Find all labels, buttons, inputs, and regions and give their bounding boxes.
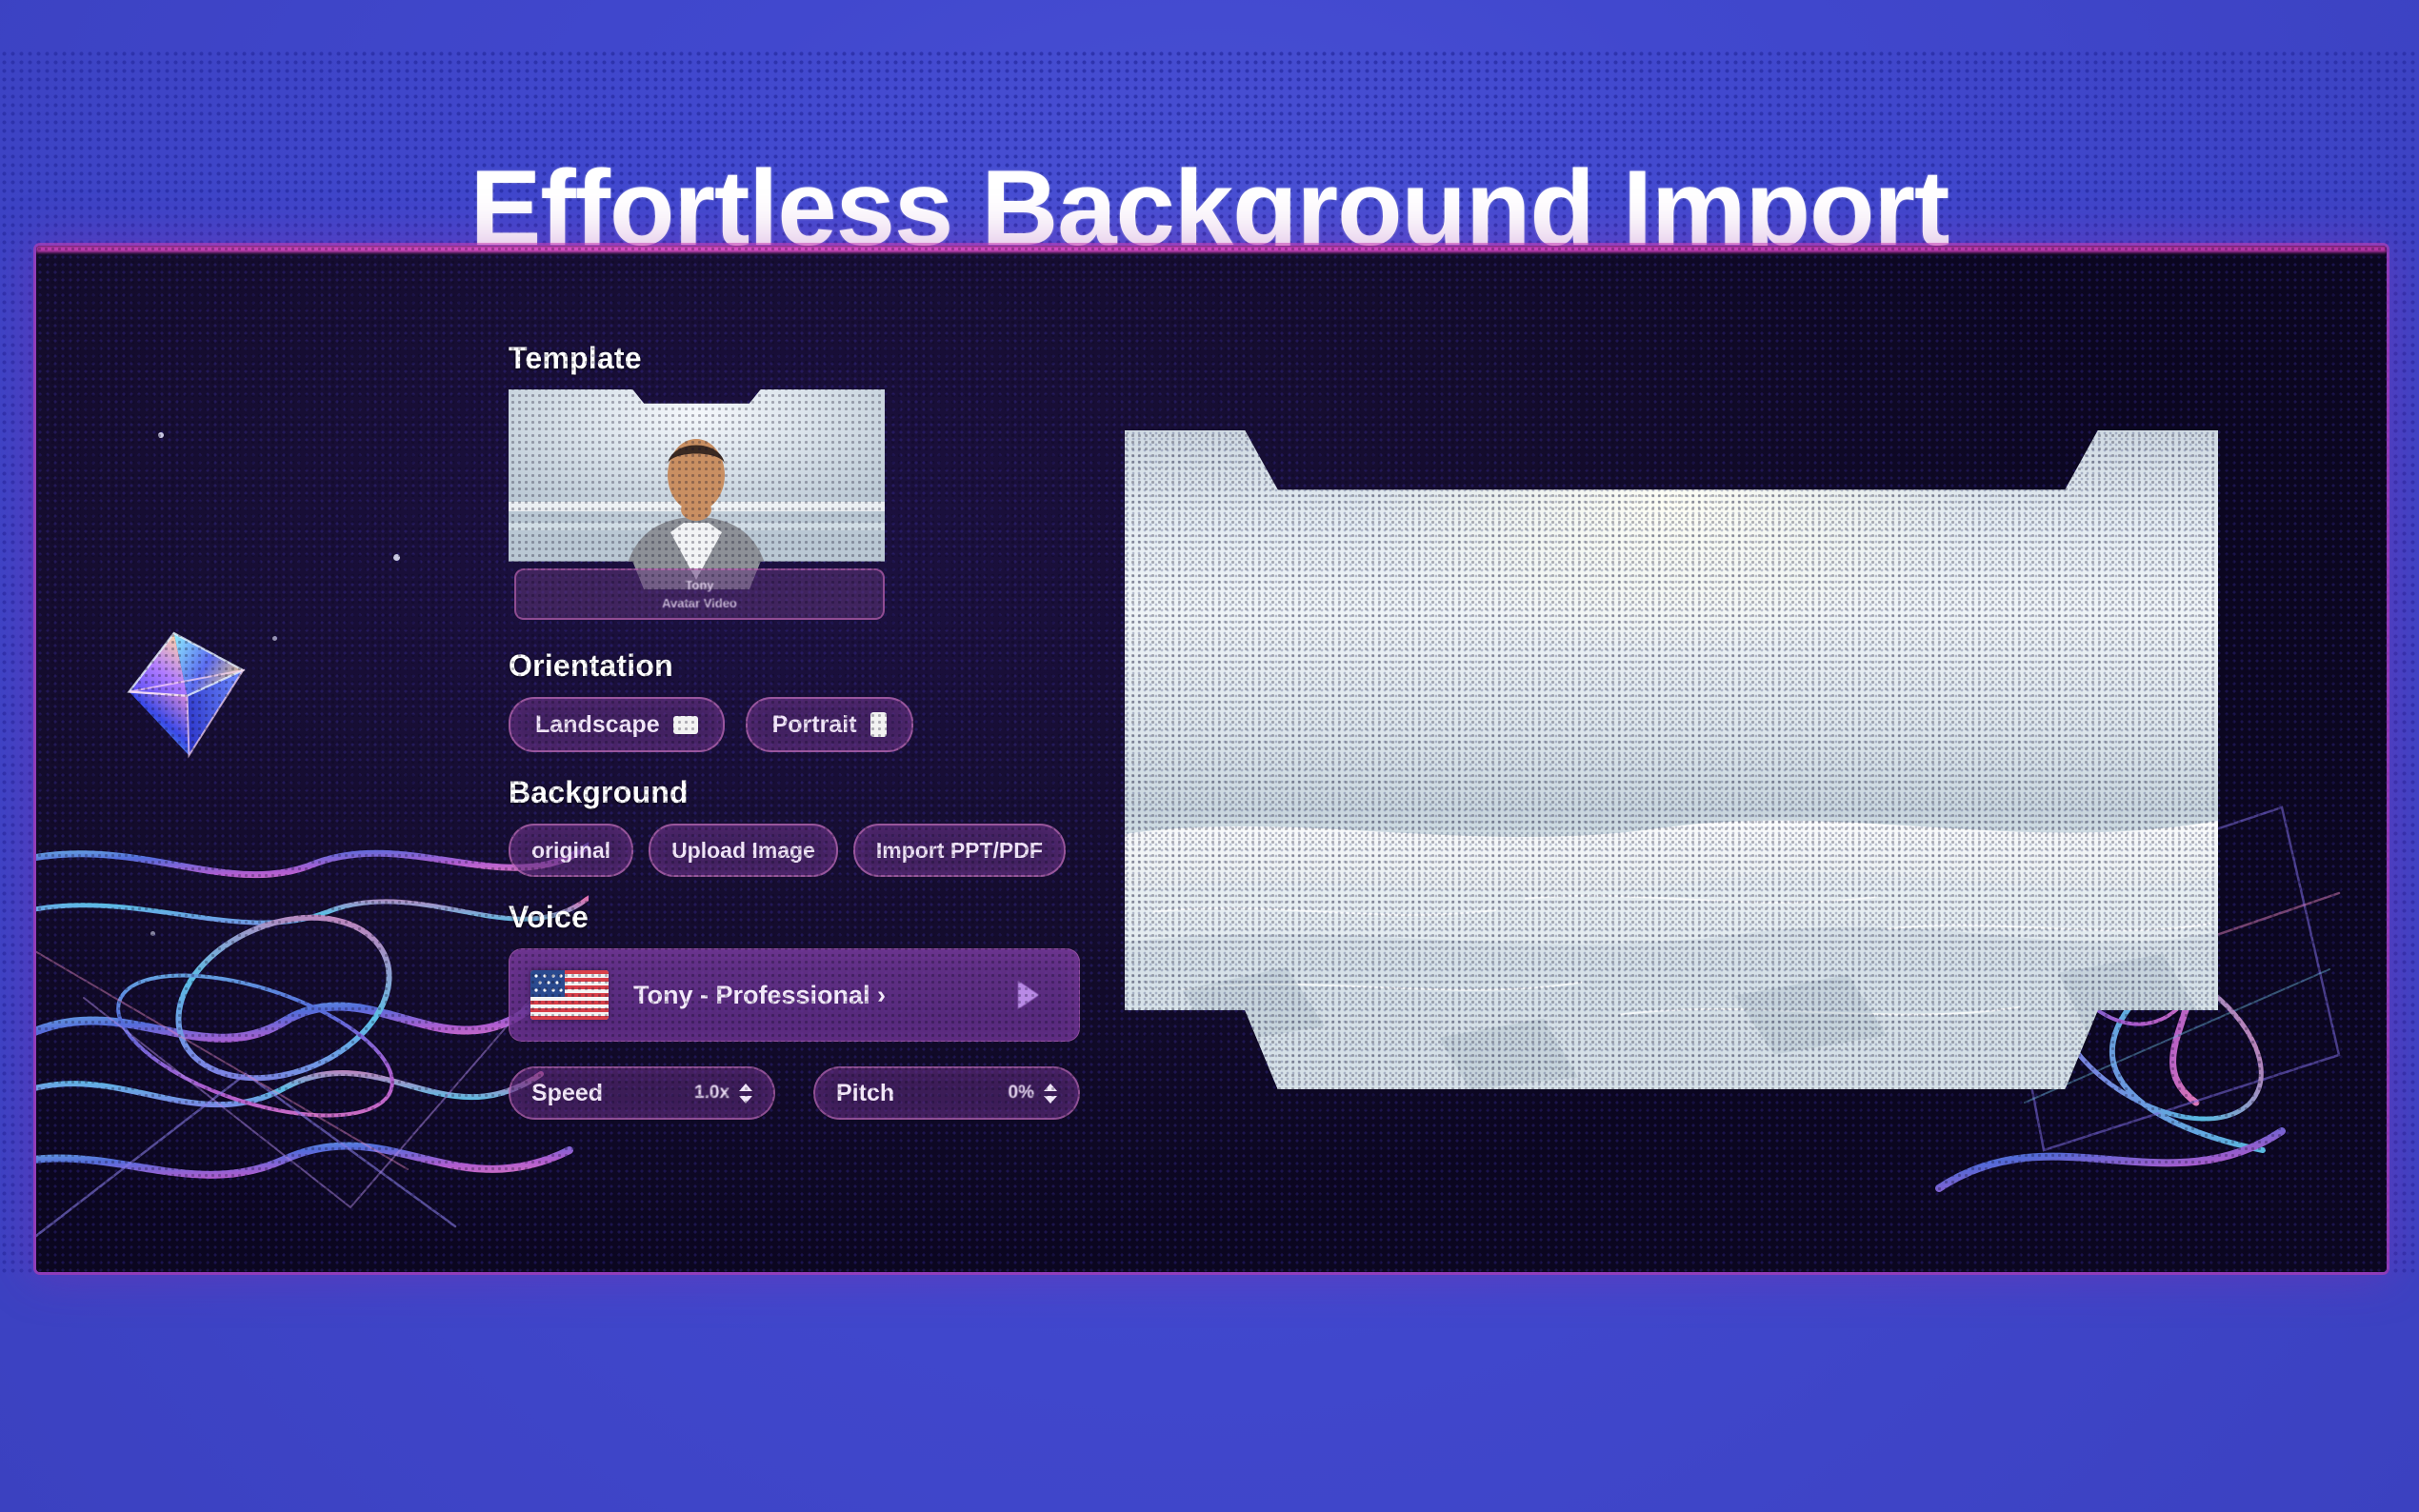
chevron-up-icon[interactable] bbox=[1044, 1084, 1057, 1091]
speed-label: Speed bbox=[531, 1080, 694, 1107]
orientation-option-portrait[interactable]: Portrait bbox=[746, 697, 913, 752]
orientation-option-landscape[interactable]: Landscape bbox=[509, 697, 725, 752]
background-option-upload-image[interactable]: Upload Image bbox=[649, 824, 838, 877]
background-section-label: Background bbox=[509, 775, 1112, 810]
voice-section-label: Voice bbox=[509, 900, 1112, 935]
background-preview[interactable] bbox=[1125, 430, 2218, 1089]
pitch-value: 0% bbox=[1009, 1083, 1034, 1104]
presenter-figure bbox=[509, 389, 885, 589]
pitch-label: Pitch bbox=[836, 1080, 1009, 1107]
voice-selector[interactable]: Tony - Professional › bbox=[509, 948, 1080, 1042]
us-flag-icon bbox=[530, 970, 609, 1020]
chevron-down-icon[interactable] bbox=[739, 1096, 752, 1104]
background-upload-image-label: Upload Image bbox=[671, 838, 815, 864]
background-options: original Upload Image Import PPT/PDF bbox=[509, 824, 1112, 877]
chevron-down-icon[interactable] bbox=[1044, 1096, 1057, 1104]
landscape-icon bbox=[673, 716, 698, 734]
settings-sidebar: Template Tony Avatar Video Ori bbox=[503, 341, 1112, 1125]
pitch-stepper-arrows[interactable] bbox=[1044, 1084, 1057, 1104]
iridescent-octahedron-icon bbox=[108, 614, 266, 772]
chevron-up-icon[interactable] bbox=[739, 1084, 752, 1091]
preview-halftone-texture bbox=[1125, 430, 2218, 1089]
speed-value: 1.0x bbox=[694, 1083, 730, 1104]
template-thumbnail[interactable] bbox=[509, 389, 885, 589]
orientation-landscape-label: Landscape bbox=[535, 711, 660, 739]
voice-selected-name: Tony - Professional › bbox=[633, 981, 886, 1010]
portrait-icon bbox=[870, 712, 887, 737]
background-original-label: original bbox=[531, 838, 610, 864]
template-thumbnail-card[interactable]: Tony Avatar Video bbox=[509, 389, 885, 589]
sparkle-dot bbox=[272, 636, 277, 641]
orientation-options: Landscape Portrait bbox=[509, 697, 1112, 752]
pitch-stepper[interactable]: Pitch 0% bbox=[813, 1066, 1080, 1120]
voice-parameters: Speed 1.0x Pitch 0% bbox=[509, 1066, 1112, 1120]
speed-stepper-arrows[interactable] bbox=[739, 1084, 752, 1104]
template-caption-line1: Tony bbox=[685, 578, 713, 592]
background-option-original[interactable]: original bbox=[509, 824, 633, 877]
orientation-portrait-label: Portrait bbox=[772, 711, 857, 739]
background-import-ppt-pdf-label: Import PPT/PDF bbox=[876, 838, 1043, 864]
template-caption: Tony Avatar Video bbox=[514, 568, 885, 620]
sparkle-dot bbox=[150, 931, 155, 936]
orientation-section-label: Orientation bbox=[509, 648, 1112, 684]
sparkle-dot bbox=[393, 554, 400, 561]
app-window: Template Tony Avatar Video Ori bbox=[36, 246, 2387, 1272]
template-caption-line2: Avatar Video bbox=[662, 596, 737, 610]
template-section-label: Template bbox=[509, 341, 1112, 376]
speed-stepper[interactable]: Speed 1.0x bbox=[509, 1066, 775, 1120]
play-icon[interactable] bbox=[1018, 981, 1039, 1009]
background-option-import-ppt-pdf[interactable]: Import PPT/PDF bbox=[853, 824, 1066, 877]
panel-top-glow bbox=[36, 246, 2387, 252]
sparkle-dot bbox=[158, 432, 164, 438]
